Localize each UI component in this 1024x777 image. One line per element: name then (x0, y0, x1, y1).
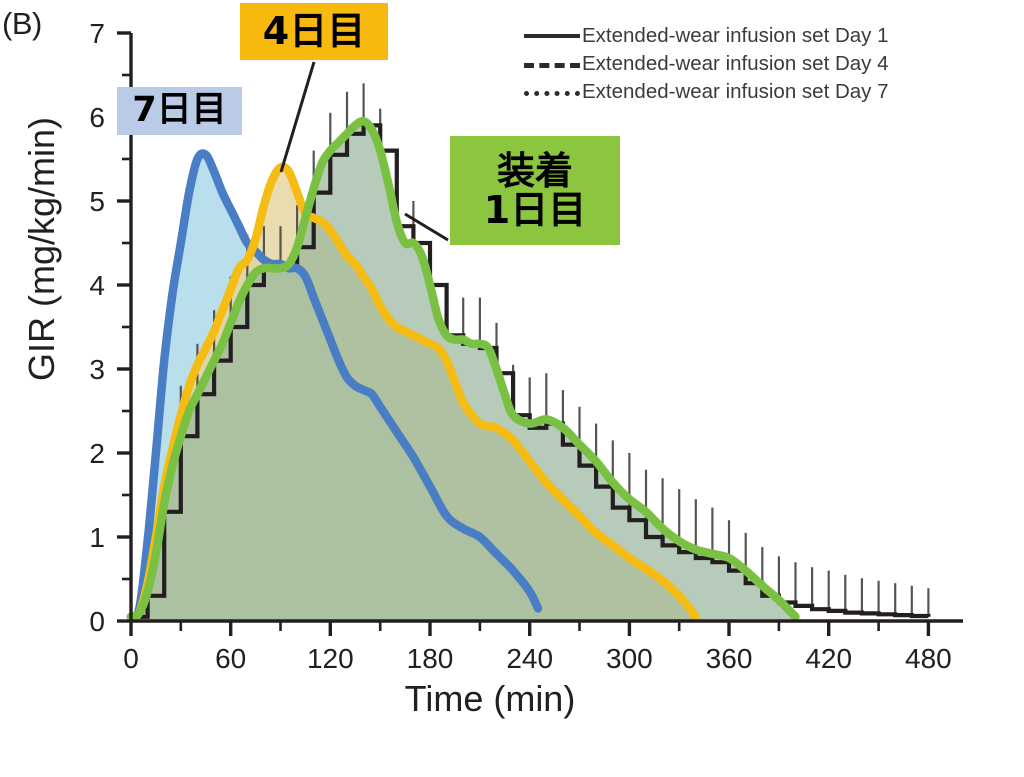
annotation-leader-day4 (281, 62, 314, 172)
annotation-day1-line1: 装着 (497, 152, 573, 191)
legend-label-day1: Extended-wear infusion set Day 1 (582, 24, 889, 48)
legend-swatch-dashed-icon (520, 55, 582, 73)
y-tick-label: 1 (89, 522, 105, 553)
legend-label-day7: Extended-wear infusion set Day 7 (582, 80, 889, 104)
legend-item-day4: Extended-wear infusion set Day 4 (520, 50, 1020, 78)
annotation-day4-text: 4日目 (263, 12, 365, 51)
x-tick-label: 240 (506, 643, 553, 674)
annotation-day7: 7日目 (117, 87, 242, 135)
legend: Extended-wear infusion set Day 1 Extende… (520, 22, 1020, 106)
x-tick-label: 300 (606, 643, 653, 674)
annotation-day1-line2: 1日目 (484, 191, 586, 230)
y-tick-label: 4 (89, 270, 105, 301)
x-tick-label: 180 (407, 643, 454, 674)
x-tick-label: 120 (307, 643, 354, 674)
y-tick-label: 3 (89, 354, 105, 385)
chart-figure: (B) GIR (mg/kg/min) Time (min) 012345670… (0, 0, 1024, 777)
y-tick-label: 0 (89, 606, 105, 637)
x-tick-label: 60 (215, 643, 246, 674)
annotation-day4: 4日目 (240, 3, 388, 60)
legend-swatch-dotted-icon (520, 83, 582, 101)
legend-label-day4: Extended-wear infusion set Day 4 (582, 52, 889, 76)
x-tick-label: 0 (123, 643, 139, 674)
legend-item-day7: Extended-wear infusion set Day 7 (520, 78, 1020, 106)
x-tick-label: 420 (805, 643, 852, 674)
x-tick-label: 360 (706, 643, 753, 674)
annotation-day7-text: 7日目 (132, 93, 226, 129)
y-tick-label: 5 (89, 186, 105, 217)
legend-swatch-solid-icon (520, 27, 582, 45)
annotation-day1: 装着 1日目 (450, 136, 620, 245)
y-tick-label: 6 (89, 102, 105, 133)
y-tick-label: 2 (89, 438, 105, 469)
legend-item-day1: Extended-wear infusion set Day 1 (520, 22, 1020, 50)
y-tick-label: 7 (89, 18, 105, 49)
x-tick-label: 480 (905, 643, 952, 674)
